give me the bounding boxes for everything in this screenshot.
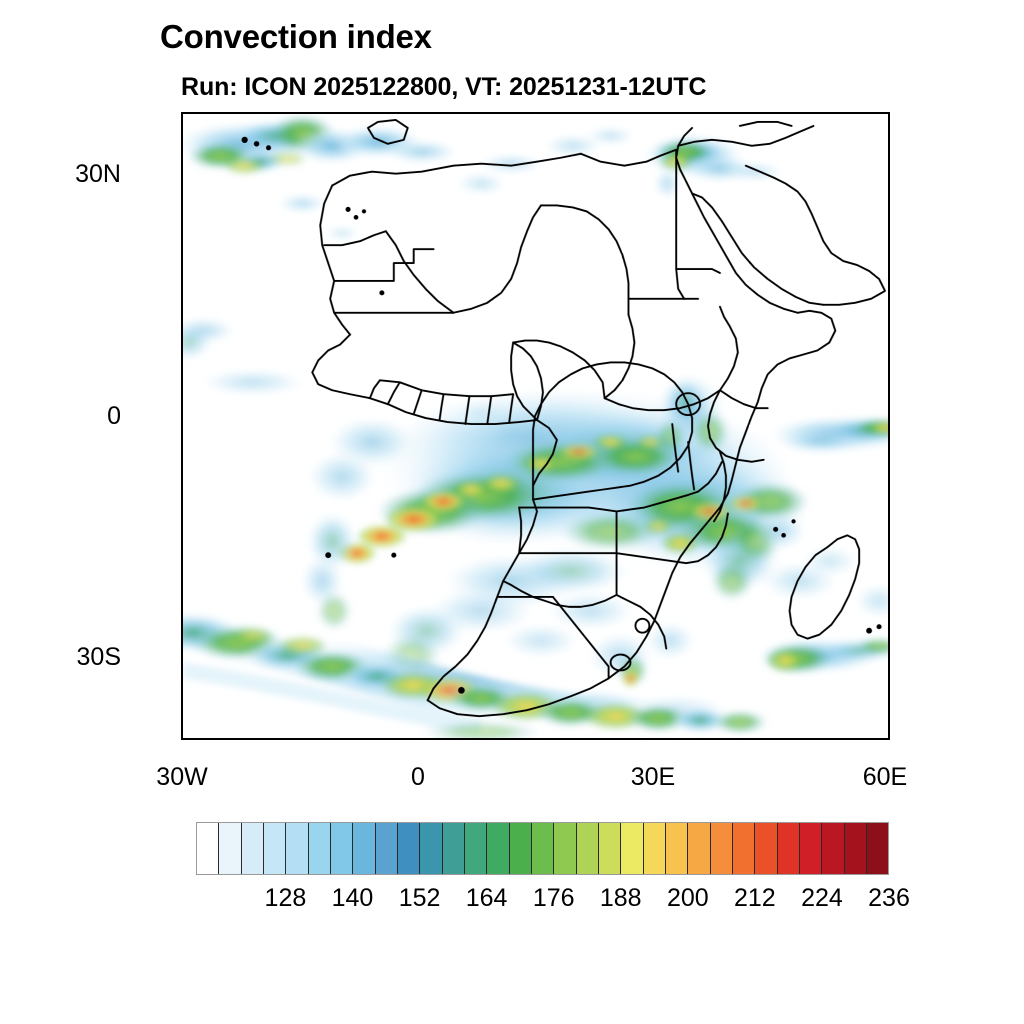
colorbar-cell — [644, 823, 666, 874]
xtick-20e — [577, 738, 579, 740]
ytick-30n — [181, 174, 183, 176]
colorbar-cell — [376, 823, 398, 874]
colorbar-cell — [532, 823, 554, 874]
colorbar-cell — [800, 823, 822, 874]
colorbar-tick-label: 152 — [399, 884, 441, 913]
xtick-top-50e — [813, 112, 815, 114]
xtick-10e — [498, 738, 500, 740]
xtick-top-20w — [261, 112, 263, 114]
colorbar-cell — [443, 823, 465, 874]
colorbar-tick-label: 140 — [332, 884, 374, 913]
ytick-label-30s: 30S — [77, 643, 121, 672]
ytick-20s — [181, 577, 183, 579]
colorbar-cell — [487, 823, 509, 874]
colorbar-cell — [286, 823, 308, 874]
colorbar-cell — [666, 823, 688, 874]
xtick-30e — [655, 738, 657, 740]
ytick-label-30n: 30N — [75, 160, 121, 189]
colorbar-cell — [845, 823, 867, 874]
xtick-top-10e — [498, 112, 500, 114]
colorbar-tick-label: 224 — [801, 884, 843, 913]
colorbar-cell — [465, 823, 487, 874]
colorbar-cell — [331, 823, 353, 874]
colorbar-cell — [219, 823, 241, 874]
ytick-right-0 — [888, 416, 890, 418]
ytick-right-30n — [888, 174, 890, 176]
xtick-top-20e — [577, 112, 579, 114]
colorbar-cell — [398, 823, 420, 874]
xtick-top-30e — [655, 112, 657, 114]
ytick-0 — [181, 416, 183, 418]
xtick-30w — [183, 738, 185, 740]
ytick-right-20s — [888, 577, 890, 579]
colorbar-cell — [554, 823, 576, 874]
xtick-20w — [261, 738, 263, 740]
xtick-0 — [419, 738, 421, 740]
ytick-right-20n — [888, 254, 890, 256]
colorbar-cell — [711, 823, 733, 874]
colorbar-cell — [197, 823, 219, 874]
map-canvas — [183, 114, 888, 738]
colorbar-cell — [264, 823, 286, 874]
xtick-label-60e: 60E — [840, 763, 930, 792]
colorbar-tick-label: 236 — [868, 884, 910, 913]
colorbar-cell — [510, 823, 532, 874]
colorbar-cell — [733, 823, 755, 874]
colorbar-cell — [755, 823, 777, 874]
ytick-10n — [181, 334, 183, 336]
colorbar-tick-label: 128 — [265, 884, 307, 913]
colorbar[interactable] — [196, 822, 889, 875]
colorbar-cell — [778, 823, 800, 874]
ytick-right-10n — [888, 334, 890, 336]
xtick-top-60e — [888, 112, 890, 114]
colorbar-cell — [822, 823, 844, 874]
colorbar-tick-labels: 128140152164176188200212224236 — [196, 884, 889, 916]
ytick-right-30s — [888, 657, 890, 659]
xtick-10w — [340, 738, 342, 740]
colorbar-cell — [599, 823, 621, 874]
xtick-label-0: 0 — [383, 763, 453, 792]
colorbar-cell — [242, 823, 264, 874]
colorbar-cell — [577, 823, 599, 874]
xtick-40e — [734, 738, 736, 740]
colorbar-tick-label: 176 — [533, 884, 575, 913]
ytick-20n — [181, 254, 183, 256]
xtick-top-10w — [340, 112, 342, 114]
xtick-label-30w: 30W — [135, 763, 229, 792]
xtick-top-0 — [419, 112, 421, 114]
xtick-label-30e: 30E — [608, 763, 698, 792]
colorbar-tick-label: 188 — [600, 884, 642, 913]
colorbar-cell — [688, 823, 710, 874]
xtick-top-40e — [734, 112, 736, 114]
colorbar-cell — [867, 823, 888, 874]
colorbar-tick-label: 200 — [667, 884, 709, 913]
map-plot-area[interactable] — [181, 112, 890, 740]
ytick-label-0: 0 — [107, 402, 121, 431]
page-title: Convection index — [160, 17, 980, 57]
colorbar-tick-label: 212 — [734, 884, 776, 913]
ytick-30s — [181, 657, 183, 659]
colorbar-tick-label: 164 — [466, 884, 508, 913]
colorbar-cell — [353, 823, 375, 874]
colorbar-cell — [420, 823, 442, 874]
xtick-top-30w — [183, 112, 185, 114]
figure-root: Convection index Run: ICON 2025122800, V… — [0, 0, 1024, 1024]
colorbar-cell — [309, 823, 331, 874]
figure-subtitle: Run: ICON 2025122800, VT: 20251231-12UTC — [181, 72, 1001, 102]
xtick-60e — [888, 738, 890, 740]
xtick-50e — [813, 738, 815, 740]
colorbar-cell — [621, 823, 643, 874]
ytick-right-10s — [888, 497, 890, 499]
ytick-10s — [181, 497, 183, 499]
